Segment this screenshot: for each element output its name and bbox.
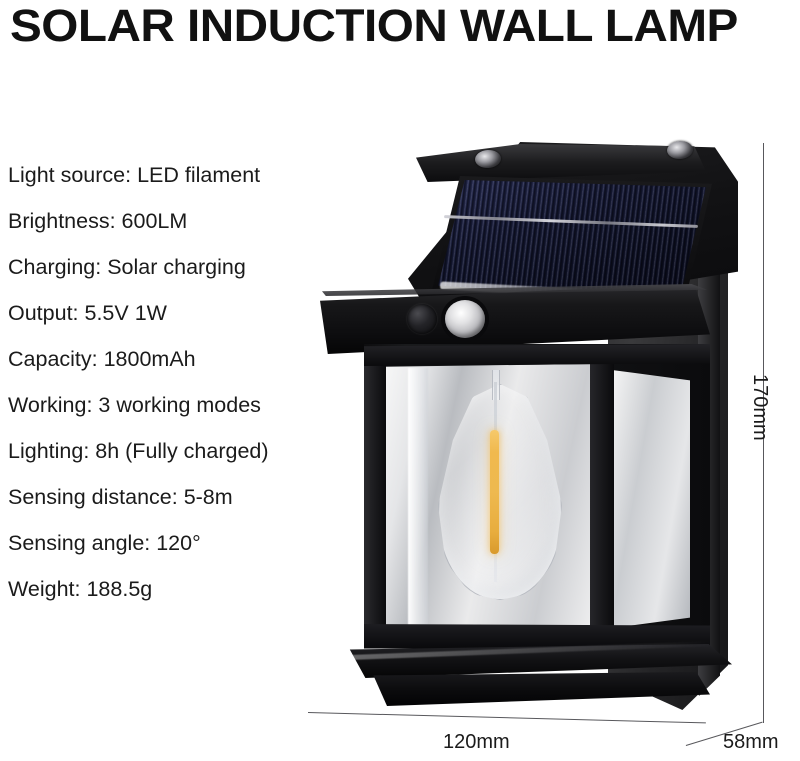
spec-item-weight: Weight: 188.5g <box>8 566 338 612</box>
dimension-label-height: 170mm <box>748 374 771 441</box>
base-plinth-lower <box>370 672 710 706</box>
lantern-top-rail <box>364 344 710 366</box>
glass-panel-side <box>612 370 690 628</box>
spec-item-charging: Charging: Solar charging <box>8 244 338 290</box>
spec-item-sensing-distance: Sensing distance: 5-8m <box>8 474 338 520</box>
glass-panel-front-highlight <box>408 368 428 626</box>
spec-item-working: Working: 3 working modes <box>8 382 338 428</box>
lantern-left-post <box>364 352 386 648</box>
spec-item-capacity: Capacity: 1800mAh <box>8 336 338 382</box>
spec-item-output: Output: 5.5V 1W <box>8 290 338 336</box>
dimension-label-depth: 58mm <box>723 731 779 754</box>
spec-item-brightness: Brightness: 600LM <box>8 198 338 244</box>
page-title: SOLAR INDUCTION WALL LAMP <box>10 2 800 50</box>
pir-sensor-icon <box>445 300 485 338</box>
spec-item-sensing-angle: Sensing angle: 120° <box>8 520 338 566</box>
specification-list: Light source: LED filament Brightness: 6… <box>8 152 338 612</box>
dimension-label-width: 120mm <box>443 731 510 754</box>
product-spec-image: SOLAR INDUCTION WALL LAMP Light source: … <box>0 0 800 761</box>
solar-panel <box>438 180 706 300</box>
spec-item-lighting: Lighting: 8h (Fully charged) <box>8 428 338 474</box>
mode-button <box>407 304 437 334</box>
product-image-solar-wall-lamp <box>312 132 744 732</box>
lantern-corner-post <box>590 354 614 642</box>
led-filament <box>490 430 499 554</box>
spec-item-light-source: Light source: LED filament <box>8 152 338 198</box>
